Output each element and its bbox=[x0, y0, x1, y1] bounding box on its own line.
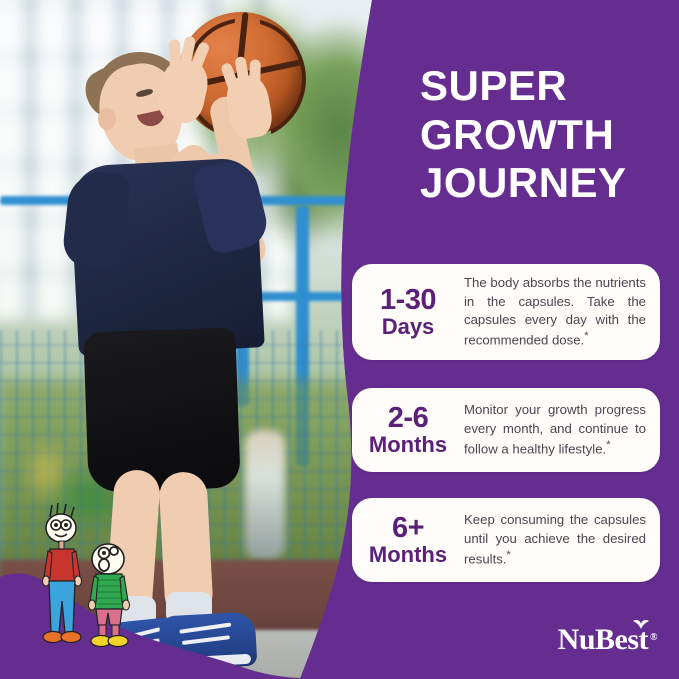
card-2-description-text: Monitor your growth progress every month… bbox=[464, 402, 646, 456]
registered-trademark: ® bbox=[650, 632, 657, 643]
card-1-footnote-mark: * bbox=[584, 330, 588, 342]
card-3-footnote-mark: * bbox=[507, 549, 511, 561]
finger bbox=[169, 39, 181, 69]
card-3-period-value: 6+ bbox=[356, 513, 460, 543]
title-line-2: GROWTH bbox=[420, 111, 670, 160]
card-2-period-unit: Months bbox=[356, 434, 460, 457]
card-2-period: 2-6 Months bbox=[352, 403, 460, 456]
logo-wordmark: NuBest bbox=[558, 623, 648, 657]
timeline-card-3: 6+ Months Keep consuming the capsules un… bbox=[352, 498, 660, 582]
page-title: SUPER GROWTH JOURNEY bbox=[420, 62, 670, 208]
boy-ear bbox=[98, 108, 116, 130]
finger bbox=[249, 59, 261, 89]
cartoon-mascots bbox=[30, 501, 150, 671]
boy-shorts bbox=[83, 327, 240, 492]
poster: SUPER GROWTH JOURNEY 1-30 Days The body … bbox=[0, 0, 679, 679]
title-line-1: SUPER bbox=[420, 62, 670, 111]
title-line-3: JOURNEY bbox=[420, 159, 670, 208]
card-1-period-unit: Days bbox=[356, 316, 460, 339]
tall-character bbox=[43, 503, 82, 643]
nubest-logo[interactable]: NuBest ® bbox=[558, 623, 657, 657]
card-2-period-value: 2-6 bbox=[356, 403, 460, 433]
card-1-period: 1-30 Days bbox=[352, 285, 460, 338]
timeline-card-2: 2-6 Months Monitor your growth progress … bbox=[352, 388, 660, 472]
card-1-description-text: The body absorbs the nutrients in the ca… bbox=[464, 275, 646, 347]
card-3-period-unit: Months bbox=[356, 544, 460, 567]
card-2-footnote-mark: * bbox=[606, 439, 610, 451]
card-3-description-text: Keep consuming the capsules until you ac… bbox=[464, 512, 646, 566]
timeline-card-1: 1-30 Days The body absorbs the nutrients… bbox=[352, 264, 660, 360]
card-3-period: 6+ Months bbox=[352, 513, 460, 566]
card-1-period-value: 1-30 bbox=[356, 285, 460, 315]
card-3-description: Keep consuming the capsules until you ac… bbox=[460, 511, 660, 568]
short-character bbox=[89, 544, 130, 647]
card-1-description: The body absorbs the nutrients in the ca… bbox=[460, 274, 660, 349]
card-2-description: Monitor your growth progress every month… bbox=[460, 401, 660, 458]
leaf-icon bbox=[632, 614, 650, 630]
